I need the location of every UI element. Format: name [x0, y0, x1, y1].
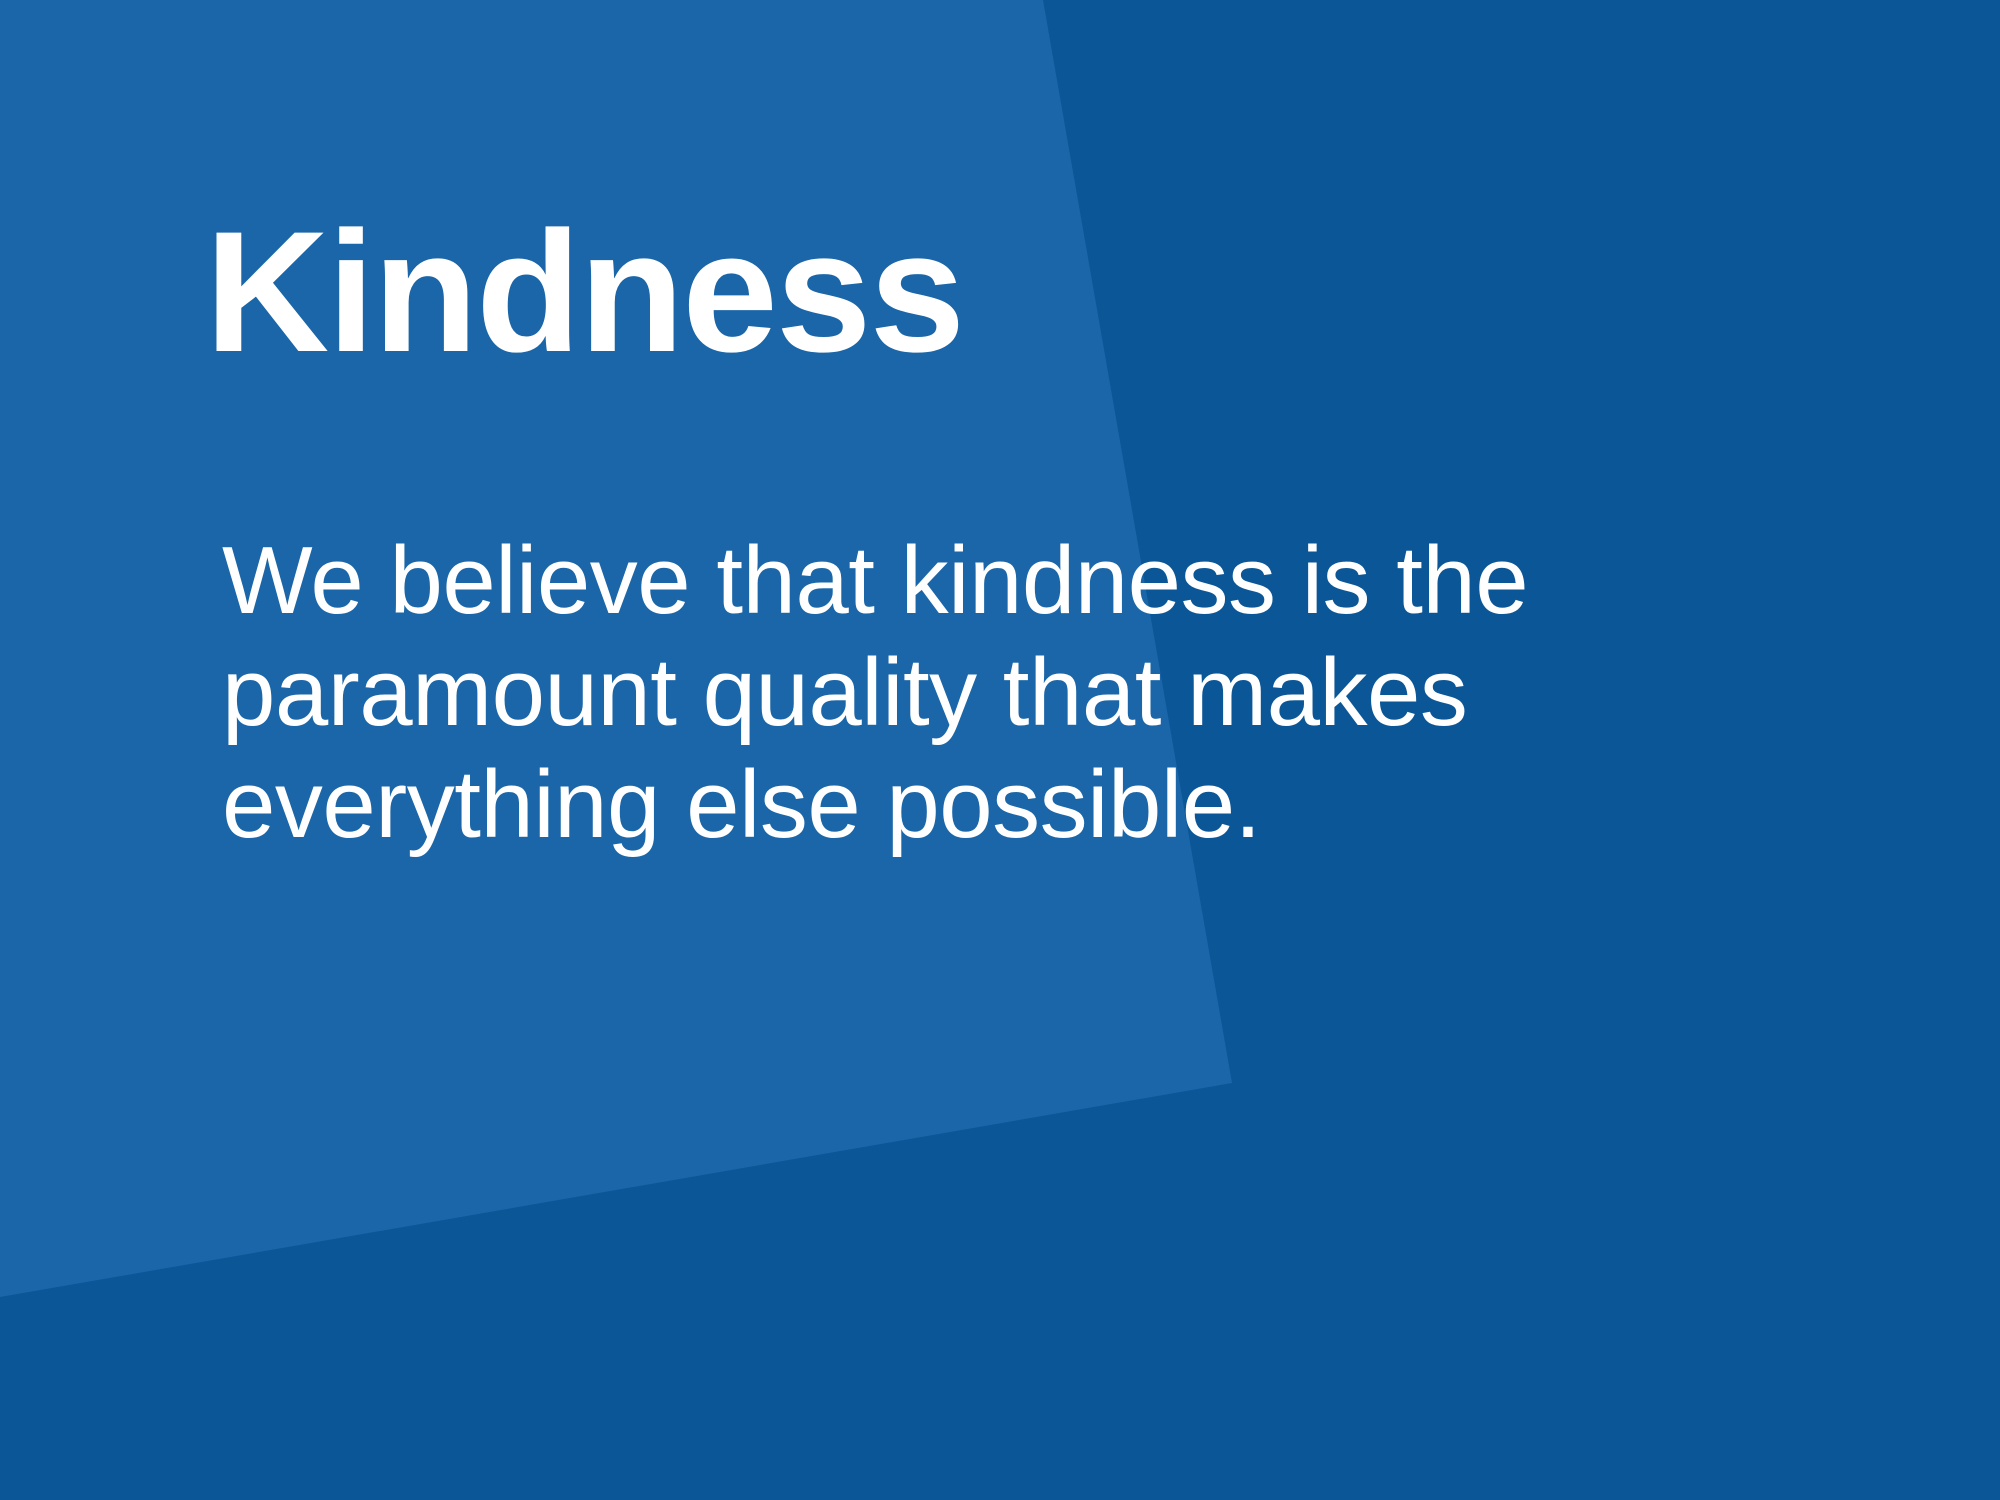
body-line-2: paramount quality that makes — [222, 637, 1702, 749]
body-line-1: We believe that kindness is the — [222, 525, 1702, 637]
body-line-3: everything else possible. — [222, 749, 1702, 861]
slide-content: Kindness We believe that kindness is the… — [0, 0, 2000, 1500]
page-title: Kindness — [205, 206, 963, 378]
slide-canvas: Kindness We believe that kindness is the… — [0, 0, 2000, 1500]
body-paragraph: We believe that kindness is the paramoun… — [222, 525, 1702, 861]
